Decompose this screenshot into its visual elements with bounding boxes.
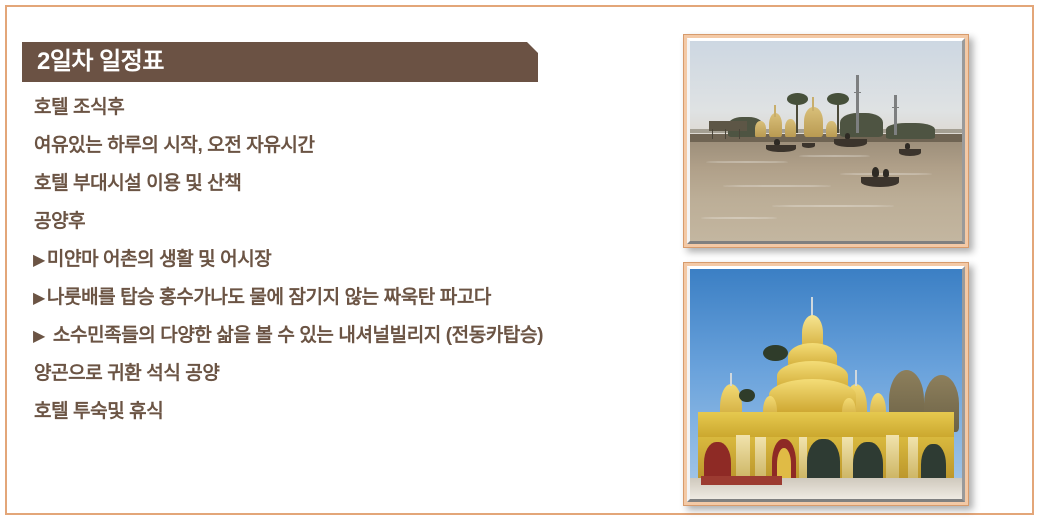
palm-tree-crown [787, 93, 809, 105]
water-ripple [772, 205, 894, 207]
triangle-bullet-icon: ▶ [33, 329, 45, 345]
pier-structure [739, 129, 740, 139]
tree-foliage [763, 345, 787, 361]
boat [834, 139, 867, 147]
boat [802, 143, 816, 148]
palm-tree-crown [827, 93, 849, 105]
agenda-item-label: 소수민족들의 다양한 삶을 볼 수 있는 내셔널빌리지 (전동카탑승) [53, 320, 543, 347]
boat-person [845, 133, 850, 139]
water-ripple [706, 161, 788, 163]
pier-structure [709, 121, 747, 131]
slide-canvas: 2일차 일정표 호텔 조식후 여유있는 하루의 시작, 오전 자유시간 호텔 부… [0, 0, 1039, 520]
agenda-item-5: ▶ 미얀마 어촌의 생활 및 어시장 [22, 244, 662, 282]
boat-person [883, 169, 888, 177]
agenda-item-label: 공양후 [34, 206, 85, 233]
pagoda-stupa [755, 121, 766, 137]
pagoda-stupa [785, 119, 796, 137]
slide-title-banner: 2일차 일정표 [22, 42, 538, 82]
agenda-item-label: 호텔 조식후 [34, 92, 124, 119]
pier-structure [725, 129, 726, 139]
photo-bevel [687, 266, 965, 502]
agenda-item-4: 공양후 [22, 206, 662, 244]
water-ripple [701, 217, 777, 219]
water-ripple [723, 185, 832, 187]
photo-bevel [687, 38, 965, 244]
agenda-item-label: 여유있는 하루의 시작, 오전 자유시간 [34, 130, 315, 157]
golden-pagoda-photo [683, 262, 969, 506]
river-pagoda-photo [683, 34, 969, 248]
river-water [690, 137, 962, 241]
pier-structure [712, 129, 713, 139]
ground-red-carpet [701, 476, 783, 485]
boat-person [905, 143, 910, 149]
triangle-bullet-icon: ▶ [33, 253, 45, 269]
agenda-item-7: ▶ 소수민족들의 다양한 삶을 볼 수 있는 내셔널빌리지 (전동카탑승) [22, 320, 662, 358]
boat-person [774, 139, 779, 145]
agenda-item-2: 여유있는 하루의 시작, 오전 자유시간 [22, 130, 662, 168]
boat [766, 145, 796, 152]
water-ripple [799, 155, 870, 157]
agenda-item-6: ▶ 나룻배를 탑승 홍수가나도 물에 잠기지 않는 짜욱탄 파고다 [22, 282, 662, 320]
stupa-finial [730, 373, 732, 387]
triangle-bullet-icon: ▶ [33, 291, 45, 307]
pagoda-stupa [804, 107, 823, 137]
agenda-item-label: 미얀마 어촌의 생활 및 어시장 [47, 244, 271, 271]
agenda-item-8: 양곤으로 귀환 석식 공양 [22, 358, 662, 396]
golden-pagoda-photo-artwork [690, 269, 962, 499]
page-title: 2일차 일정표 [22, 50, 164, 74]
palm-tree-trunk [796, 101, 798, 133]
agenda-item-3: 호텔 부대시설 이용 및 산책 [22, 168, 662, 206]
stupa-finial [855, 370, 857, 386]
pagoda-spire [812, 97, 814, 111]
river-pagoda-photo-artwork [690, 41, 962, 241]
agenda-item-9: 호텔 투숙및 휴식 [22, 396, 662, 434]
palm-tree-trunk [837, 101, 839, 133]
pagoda-spire [774, 105, 776, 117]
agenda-list: 호텔 조식후 여유있는 하루의 시작, 오전 자유시간 호텔 부대시설 이용 및… [22, 92, 662, 434]
radio-tower [894, 95, 897, 135]
radio-tower [856, 75, 859, 133]
agenda-item-1: 호텔 조식후 [22, 92, 662, 130]
agenda-item-label: 호텔 투숙및 휴식 [34, 396, 163, 423]
boat-person [872, 167, 879, 177]
pagoda-stupa [826, 121, 837, 137]
agenda-item-label: 나룻배를 탑승 홍수가나도 물에 잠기지 않는 짜욱탄 파고다 [47, 282, 491, 309]
agenda-item-label: 양곤으로 귀환 석식 공양 [34, 358, 219, 385]
agenda-item-label: 호텔 부대시설 이용 및 산책 [34, 168, 241, 195]
